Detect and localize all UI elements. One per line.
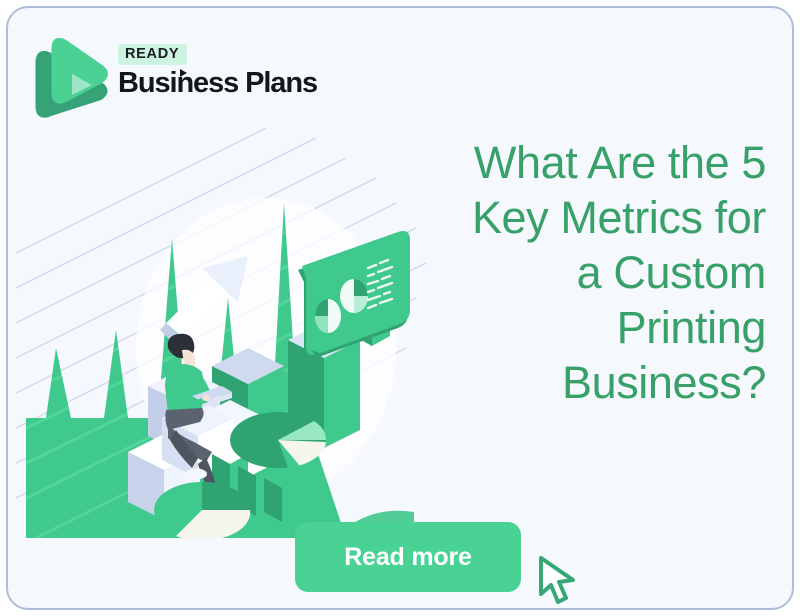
headline-line: Business?: [406, 356, 766, 411]
brand-wordmark: READY Business Plans: [118, 44, 328, 100]
promo-banner-card: READY Business Plans What Are the 5 Key …: [6, 6, 794, 610]
headline-line: Key Metrics for: [406, 191, 766, 246]
bubble-pie-b: [340, 279, 368, 313]
headline: What Are the 5 Key Metrics for a Custom …: [406, 136, 766, 410]
headline-line: a Custom: [406, 246, 766, 301]
read-more-button[interactable]: Read more: [295, 522, 521, 592]
brand-name-text: Business Plans: [118, 67, 317, 99]
brand-logo-block[interactable]: READY Business Plans: [30, 34, 330, 120]
double-play-triangle-icon: [30, 38, 108, 118]
isometric-pie-chart-upper: [230, 412, 326, 468]
play-triangle-i-dot-icon: [180, 69, 187, 77]
isometric-business-analytics-illustration: [16, 118, 436, 538]
brand-name: Business Plans: [118, 68, 328, 99]
bubble-pie-a: [315, 299, 341, 333]
headline-line: Printing: [406, 301, 766, 356]
screenshot-root: READY Business Plans What Are the 5 Key …: [0, 0, 800, 616]
cta-row: Read more: [295, 522, 521, 594]
ready-badge: READY: [118, 44, 187, 65]
mouse-pointer-arrow-icon: [535, 552, 585, 610]
isometric-pie-chart-lower: [154, 482, 250, 538]
headline-line: What Are the 5: [406, 136, 766, 191]
